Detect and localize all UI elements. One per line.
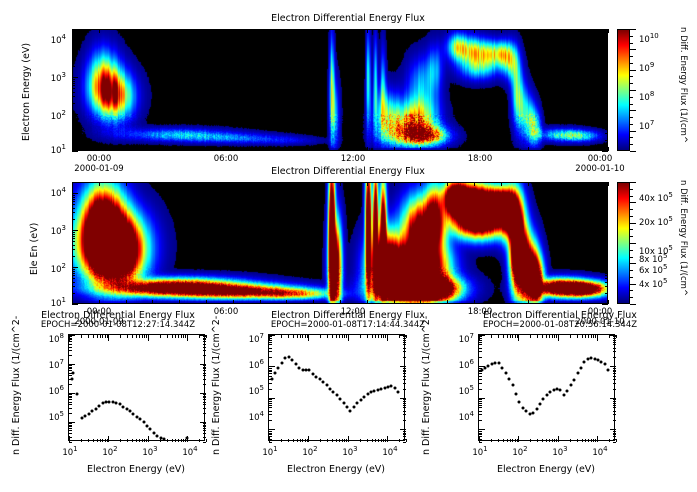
axis-tick bbox=[498, 439, 499, 442]
axis-tick bbox=[308, 335, 309, 341]
axis-tick bbox=[605, 199, 608, 200]
axis-tick bbox=[406, 335, 407, 338]
panel-2-cbtick-4: 6x 105 bbox=[639, 264, 667, 275]
axis-tick bbox=[269, 442, 272, 443]
axis-tick bbox=[183, 335, 184, 338]
axis-tick bbox=[528, 147, 529, 151]
axis-tick bbox=[72, 245, 75, 246]
axis-tick bbox=[203, 402, 206, 403]
axis-tick bbox=[387, 335, 388, 341]
axis-tick bbox=[605, 48, 608, 49]
axis-tick bbox=[72, 199, 75, 200]
axis-tick bbox=[69, 399, 72, 400]
axis-tick bbox=[72, 208, 75, 209]
axis-tick bbox=[269, 373, 272, 374]
data-point bbox=[277, 366, 280, 369]
axis-tick bbox=[479, 344, 482, 345]
data-point bbox=[80, 417, 83, 420]
axis-tick bbox=[293, 439, 294, 442]
panel-1-xtick-2: 12:00 bbox=[341, 155, 366, 164]
axis-tick bbox=[203, 384, 206, 385]
axis-tick bbox=[203, 338, 206, 339]
axis-tick bbox=[381, 335, 382, 338]
axis-tick bbox=[613, 373, 616, 374]
colorbar-tick bbox=[630, 189, 633, 190]
axis-tick bbox=[203, 413, 206, 414]
axis-tick bbox=[152, 182, 153, 186]
axis-tick bbox=[203, 426, 206, 427]
data-point bbox=[583, 360, 586, 363]
axis-tick bbox=[183, 439, 184, 442]
axis-tick bbox=[613, 401, 616, 402]
axis-tick bbox=[269, 433, 272, 434]
panel-1-colorbar-label: n Diff. Energy Flux (1/(cm^ bbox=[679, 27, 688, 143]
axis-tick bbox=[403, 371, 406, 372]
colorbar-tick bbox=[630, 70, 636, 71]
panel-1-xtick-1: 06:00 bbox=[214, 155, 239, 164]
axis-tick bbox=[403, 403, 406, 404]
axis-tick bbox=[99, 29, 100, 33]
data-point bbox=[142, 421, 145, 424]
colorbar-tick bbox=[630, 49, 636, 50]
axis-tick bbox=[613, 439, 616, 440]
axis-tick bbox=[554, 439, 555, 442]
axis-tick bbox=[593, 335, 594, 338]
axis-tick bbox=[546, 439, 547, 442]
axis-tick bbox=[269, 342, 272, 343]
axis-tick bbox=[269, 376, 272, 377]
subplot-2-xlabel: Electron Energy (eV) bbox=[287, 465, 385, 475]
data-point bbox=[562, 394, 565, 397]
axis-tick bbox=[269, 436, 272, 437]
axis-tick bbox=[474, 29, 475, 33]
data-point bbox=[308, 369, 311, 372]
axis-tick bbox=[136, 439, 137, 442]
axis-tick bbox=[605, 129, 608, 130]
axis-tick bbox=[269, 401, 272, 402]
axis-tick bbox=[69, 379, 72, 380]
axis-tick bbox=[72, 151, 78, 152]
colorbar-tick bbox=[630, 243, 636, 244]
axis-tick bbox=[72, 293, 75, 294]
axis-tick bbox=[605, 238, 608, 239]
axis-tick bbox=[613, 379, 616, 380]
panel-2-cbtick-1: 20x 105 bbox=[639, 216, 673, 227]
axis-tick bbox=[200, 393, 206, 394]
data-point bbox=[72, 371, 75, 374]
colorbar-tick bbox=[630, 263, 636, 264]
axis-tick bbox=[479, 376, 482, 377]
data-point bbox=[538, 402, 541, 405]
panel-1-cbtick-1: 109 bbox=[639, 62, 654, 73]
axis-tick bbox=[528, 300, 529, 304]
axis-tick bbox=[72, 201, 75, 202]
axis-tick bbox=[81, 439, 82, 442]
axis-tick bbox=[72, 129, 75, 130]
axis-tick bbox=[233, 147, 234, 151]
axis-tick bbox=[605, 133, 608, 134]
data-point bbox=[135, 415, 138, 418]
axis-tick bbox=[549, 335, 550, 338]
axis-tick bbox=[501, 29, 502, 33]
axis-tick bbox=[269, 371, 272, 372]
axis-tick bbox=[200, 335, 206, 336]
axis-tick bbox=[72, 42, 75, 43]
axis-tick bbox=[403, 431, 406, 432]
axis-tick bbox=[206, 182, 207, 186]
subplot-2-ytick-3: 104 bbox=[249, 411, 264, 422]
axis-tick bbox=[339, 335, 340, 338]
axis-tick bbox=[320, 335, 321, 338]
axis-tick bbox=[608, 147, 609, 151]
axis-tick bbox=[175, 335, 176, 338]
axis-tick bbox=[403, 439, 406, 440]
axis-tick bbox=[69, 364, 75, 365]
axis-tick bbox=[360, 439, 361, 442]
axis-tick bbox=[479, 411, 482, 412]
axis-tick bbox=[403, 442, 406, 443]
axis-tick bbox=[605, 278, 608, 279]
panel-1-date-left: 2000-01-09 bbox=[74, 165, 123, 174]
axis-tick bbox=[510, 335, 511, 338]
axis-tick bbox=[233, 300, 234, 304]
axis-tick bbox=[203, 425, 206, 426]
axis-tick bbox=[479, 379, 482, 380]
axis-tick bbox=[447, 147, 448, 151]
colorbar-tick bbox=[630, 202, 636, 203]
axis-tick bbox=[93, 439, 94, 442]
axis-tick bbox=[558, 436, 559, 442]
axis-tick bbox=[479, 373, 482, 374]
colorbar-tick bbox=[630, 250, 633, 251]
axis-tick bbox=[97, 335, 98, 338]
axis-tick bbox=[72, 48, 75, 49]
axis-tick bbox=[605, 286, 608, 287]
axis-tick bbox=[269, 439, 272, 440]
axis-tick bbox=[69, 367, 72, 368]
axis-tick bbox=[69, 402, 72, 403]
data-point bbox=[287, 356, 290, 359]
axis-tick bbox=[126, 182, 127, 186]
axis-tick bbox=[179, 300, 180, 304]
axis-tick bbox=[286, 182, 287, 186]
axis-tick bbox=[72, 230, 78, 231]
axis-tick bbox=[610, 335, 616, 336]
axis-tick bbox=[605, 120, 608, 121]
axis-tick bbox=[72, 85, 75, 86]
axis-tick bbox=[206, 335, 207, 338]
axis-tick bbox=[93, 335, 94, 338]
axis-tick bbox=[72, 88, 75, 89]
colorbar-tick bbox=[630, 304, 636, 305]
axis-tick bbox=[479, 442, 482, 443]
axis-tick bbox=[69, 442, 72, 443]
axis-tick bbox=[479, 429, 485, 430]
axis-tick bbox=[605, 92, 608, 93]
panel-1-ytick-0: 104 bbox=[51, 34, 66, 45]
axis-tick bbox=[403, 414, 406, 415]
axis-tick bbox=[403, 344, 406, 345]
axis-tick bbox=[479, 371, 482, 372]
axis-tick bbox=[72, 66, 75, 67]
axis-tick bbox=[577, 335, 578, 338]
axis-tick bbox=[602, 267, 608, 268]
axis-tick bbox=[69, 430, 72, 431]
axis-tick bbox=[479, 370, 482, 371]
axis-tick bbox=[69, 341, 72, 342]
colorbar-tick bbox=[630, 277, 633, 278]
panel-1-xtick-0: 00:00 bbox=[87, 155, 112, 164]
axis-tick bbox=[383, 335, 384, 338]
axis-tick bbox=[69, 396, 72, 397]
axis-tick bbox=[72, 236, 75, 237]
colorbar-tick bbox=[630, 36, 633, 37]
axis-tick bbox=[605, 51, 608, 52]
axis-tick bbox=[479, 431, 482, 432]
colorbar-tick bbox=[630, 104, 633, 105]
axis-tick bbox=[152, 147, 153, 151]
subplot-3-xtick-0: 101 bbox=[472, 446, 487, 457]
axis-tick bbox=[203, 350, 206, 351]
data-point bbox=[490, 362, 493, 365]
axis-tick bbox=[72, 204, 75, 205]
axis-tick bbox=[613, 434, 616, 435]
data-point bbox=[497, 362, 500, 365]
axis-tick bbox=[72, 40, 78, 41]
panel-1-ytick-2: 102 bbox=[51, 110, 66, 121]
axis-tick bbox=[269, 370, 272, 371]
axis-tick bbox=[88, 439, 89, 442]
axis-tick bbox=[313, 147, 314, 151]
axis-tick bbox=[302, 439, 303, 442]
axis-tick bbox=[383, 439, 384, 442]
axis-tick bbox=[200, 422, 206, 423]
data-point bbox=[559, 388, 562, 391]
axis-tick bbox=[269, 383, 272, 384]
axis-tick bbox=[269, 429, 275, 430]
colorbar-tick bbox=[630, 209, 633, 210]
axis-tick bbox=[203, 373, 206, 374]
colorbar-tick bbox=[630, 196, 633, 197]
axis-tick bbox=[591, 335, 592, 338]
axis-tick bbox=[554, 300, 555, 304]
axis-tick bbox=[308, 436, 309, 442]
axis-tick bbox=[608, 182, 609, 186]
colorbar-tick bbox=[630, 297, 633, 298]
axis-tick bbox=[72, 55, 75, 56]
panel-1-ylabel: Electron Energy (eV) bbox=[22, 43, 32, 141]
axis-tick bbox=[203, 437, 206, 438]
data-point bbox=[504, 372, 507, 375]
axis-tick bbox=[498, 335, 499, 338]
axis-tick bbox=[288, 335, 289, 338]
axis-tick bbox=[72, 46, 75, 47]
axis-tick bbox=[167, 335, 168, 338]
axis-tick bbox=[206, 29, 207, 33]
subplot-3-ytick-2: 105 bbox=[459, 385, 474, 396]
axis-tick bbox=[269, 357, 272, 358]
axis-tick bbox=[179, 147, 180, 151]
subplot-1-ylabel: n Diff. Energy Flux (1/(cm^2- bbox=[12, 316, 22, 455]
axis-tick bbox=[581, 300, 582, 304]
axis-tick bbox=[340, 300, 341, 304]
axis-tick bbox=[479, 368, 482, 369]
axis-tick bbox=[605, 275, 608, 276]
colorbar-tick bbox=[630, 43, 633, 44]
data-point bbox=[346, 405, 349, 408]
axis-tick bbox=[72, 234, 75, 235]
axis-tick bbox=[613, 340, 616, 341]
axis-tick bbox=[269, 366, 275, 367]
axis-tick bbox=[479, 336, 482, 337]
axis-tick bbox=[602, 193, 608, 194]
axis-tick bbox=[69, 433, 72, 434]
data-point bbox=[91, 410, 94, 413]
axis-tick bbox=[69, 344, 72, 345]
subplot-3-xtick-2: 103 bbox=[552, 446, 567, 457]
axis-tick bbox=[269, 420, 272, 421]
axis-tick bbox=[206, 439, 207, 442]
axis-tick bbox=[372, 439, 373, 442]
axis-tick bbox=[336, 335, 337, 338]
axis-tick bbox=[313, 182, 314, 186]
axis-tick bbox=[420, 182, 421, 186]
axis-tick bbox=[613, 442, 616, 443]
data-point bbox=[149, 428, 152, 431]
data-point bbox=[318, 378, 321, 381]
colorbar-tick bbox=[630, 110, 636, 111]
axis-tick bbox=[206, 300, 207, 304]
axis-tick bbox=[507, 439, 508, 442]
axis-tick bbox=[72, 59, 75, 60]
axis-tick bbox=[203, 367, 206, 368]
axis-tick bbox=[602, 151, 608, 152]
data-point bbox=[397, 390, 400, 393]
subplot-2-ylabel: n Diff. Energy Flux (1/(cm^2- bbox=[212, 316, 222, 455]
axis-tick bbox=[479, 351, 482, 352]
axis-tick bbox=[72, 273, 75, 274]
panel-2-ytick-3: 101 bbox=[51, 297, 66, 308]
data-point bbox=[356, 401, 359, 404]
axis-tick bbox=[588, 439, 589, 442]
axis-tick bbox=[542, 439, 543, 442]
colorbar-tick bbox=[630, 76, 633, 77]
data-point bbox=[393, 386, 396, 389]
axis-tick bbox=[597, 335, 598, 341]
axis-tick bbox=[581, 182, 582, 186]
axis-tick bbox=[515, 335, 516, 338]
panel-1-ytick-3: 101 bbox=[51, 144, 66, 155]
axis-tick bbox=[367, 147, 368, 151]
figure-canvas: Electron Differential Energy Flux Electr… bbox=[0, 0, 697, 492]
axis-tick bbox=[69, 355, 72, 356]
axis-tick bbox=[69, 384, 72, 385]
axis-tick bbox=[613, 420, 616, 421]
axis-tick bbox=[203, 428, 206, 429]
axis-tick bbox=[605, 83, 608, 84]
colorbar-tick bbox=[630, 223, 636, 224]
subplot-2-xtick-2: 103 bbox=[342, 446, 357, 457]
axis-tick bbox=[72, 140, 75, 141]
colorbar-tick bbox=[630, 236, 633, 237]
data-point bbox=[76, 393, 79, 396]
axis-tick bbox=[581, 29, 582, 33]
axis-tick bbox=[179, 29, 180, 33]
axis-tick bbox=[72, 238, 75, 239]
axis-tick bbox=[479, 399, 482, 400]
axis-tick bbox=[403, 411, 406, 412]
axis-tick bbox=[72, 77, 78, 78]
axis-tick bbox=[554, 335, 555, 338]
colorbar-tick bbox=[630, 257, 633, 258]
axis-tick bbox=[613, 342, 616, 343]
subplot-2-xtick-0: 101 bbox=[262, 446, 277, 457]
data-point bbox=[291, 359, 294, 362]
axis-tick bbox=[72, 256, 75, 257]
axis-tick bbox=[72, 125, 75, 126]
data-point bbox=[325, 384, 328, 387]
data-point bbox=[139, 418, 142, 421]
axis-tick bbox=[546, 335, 547, 338]
data-point bbox=[98, 405, 101, 408]
axis-tick bbox=[332, 335, 333, 338]
axis-tick bbox=[175, 439, 176, 442]
axis-tick bbox=[342, 335, 343, 338]
axis-tick bbox=[203, 375, 206, 376]
axis-tick bbox=[518, 436, 519, 442]
data-point bbox=[332, 390, 335, 393]
axis-tick bbox=[372, 335, 373, 338]
axis-tick bbox=[179, 182, 180, 186]
axis-tick bbox=[340, 147, 341, 151]
axis-tick bbox=[400, 366, 406, 367]
axis-tick bbox=[72, 304, 78, 305]
axis-tick bbox=[72, 122, 75, 123]
axis-tick bbox=[148, 335, 149, 341]
axis-tick bbox=[512, 439, 513, 442]
axis-tick bbox=[269, 338, 272, 339]
subplot-1-xtick-0: 101 bbox=[62, 446, 77, 457]
axis-tick bbox=[72, 116, 75, 117]
axis-tick bbox=[203, 399, 206, 400]
axis-tick bbox=[400, 398, 406, 399]
axis-tick bbox=[479, 414, 482, 415]
data-point bbox=[87, 412, 90, 415]
axis-tick bbox=[72, 195, 75, 196]
axis-tick bbox=[69, 408, 72, 409]
axis-tick bbox=[403, 383, 406, 384]
axis-tick bbox=[394, 182, 395, 186]
axis-tick bbox=[126, 300, 127, 304]
axis-tick bbox=[286, 300, 287, 304]
subplot-3-xtick-1: 102 bbox=[512, 446, 527, 457]
axis-tick bbox=[69, 336, 72, 337]
subplot-3-xtick-3: 104 bbox=[592, 446, 607, 457]
axis-tick bbox=[178, 439, 179, 442]
axis-tick bbox=[132, 439, 133, 442]
data-point bbox=[545, 394, 548, 397]
axis-tick bbox=[69, 339, 72, 340]
axis-tick bbox=[69, 397, 72, 398]
panel-1-date-right: 2000-01-10 bbox=[575, 165, 624, 174]
axis-tick bbox=[403, 379, 406, 380]
axis-tick bbox=[479, 389, 482, 390]
axis-tick bbox=[269, 389, 272, 390]
axis-tick bbox=[501, 182, 502, 186]
axis-tick bbox=[403, 340, 406, 341]
axis-tick bbox=[394, 147, 395, 151]
axis-tick bbox=[305, 335, 306, 338]
